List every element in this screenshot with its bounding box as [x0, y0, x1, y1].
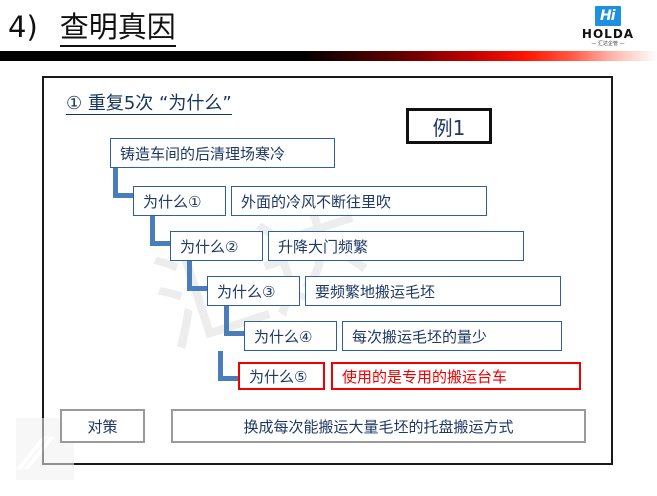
countermeasure-text: 换成每次能搬运大量毛坯的托盘搬运方式 [243, 416, 513, 437]
holda-logo: Hi HOLDA — 汇达企管 — [569, 6, 647, 50]
logo-mark-glyph: Hi [600, 6, 615, 26]
why-reason-box-2: 升降大门频繁 [268, 231, 524, 261]
page-title-text: 查明真因 [60, 10, 176, 47]
problem-statement-label: 铸造车间的后清理场寒冷 [120, 143, 285, 164]
why-label-box-2: 为什么② [170, 231, 263, 261]
why-label-1: 为什么① [143, 191, 201, 212]
why-label-4: 为什么④ [254, 326, 312, 347]
why-reason-1: 外面的冷风不断往里吹 [241, 191, 391, 212]
logo-mark-icon: Hi [595, 6, 621, 26]
why-label-box-4: 为什么④ [244, 321, 337, 351]
header-divider-bar [0, 51, 657, 61]
why-reason-3: 要频繁地搬运毛坯 [315, 281, 435, 302]
page-title: 4)查明真因 [8, 4, 176, 46]
section-heading: ① 重复5次 “为什么” [66, 89, 232, 115]
why-reason-box-3: 要频繁地搬运毛坯 [305, 276, 561, 306]
page-title-number: 4) [8, 10, 38, 44]
watermark-glyph: ⁄⁄ [28, 424, 43, 486]
why-label-box-3: 为什么③ [207, 276, 300, 306]
countermeasure-label: 对策 [87, 416, 117, 437]
logo-wordmark: HOLDA [569, 27, 647, 41]
logo-subtext-label: 汇达企管 [598, 41, 618, 47]
countermeasure-label-box: 对策 [60, 409, 145, 443]
why-label-box-5: 为什么⑤ [238, 362, 325, 390]
why-label-2: 为什么② [180, 236, 238, 257]
logo-subtext: — 汇达企管 — [569, 40, 647, 47]
why-reason-box-4: 每次搬运毛坯的量少 [342, 321, 562, 351]
why-label-5: 为什么⑤ [249, 366, 307, 387]
example-badge: 例1 [406, 108, 492, 144]
example-badge-label: 例1 [433, 112, 466, 141]
why-reason-2: 升降大门频繁 [278, 236, 368, 257]
content-frame [42, 76, 613, 465]
why-reason-5: 使用的是专用的搬运台车 [342, 366, 507, 387]
problem-statement-box: 铸造车间的后清理场寒冷 [110, 138, 335, 168]
why-reason-4: 每次搬运毛坯的量少 [352, 326, 487, 347]
why-reason-box-1: 外面的冷风不断往里吹 [231, 186, 487, 216]
slide-header: 4)查明真因 Hi HOLDA — 汇达企管 — [0, 0, 657, 56]
why-label-box-1: 为什么① [133, 186, 226, 216]
section-heading-label: ① 重复5次 “为什么” [66, 93, 232, 115]
countermeasure-text-box: 换成每次能搬运大量毛坯的托盘搬运方式 [171, 409, 586, 443]
why-reason-box-5: 使用的是专用的搬运台车 [331, 362, 581, 390]
why-label-3: 为什么③ [217, 281, 275, 302]
